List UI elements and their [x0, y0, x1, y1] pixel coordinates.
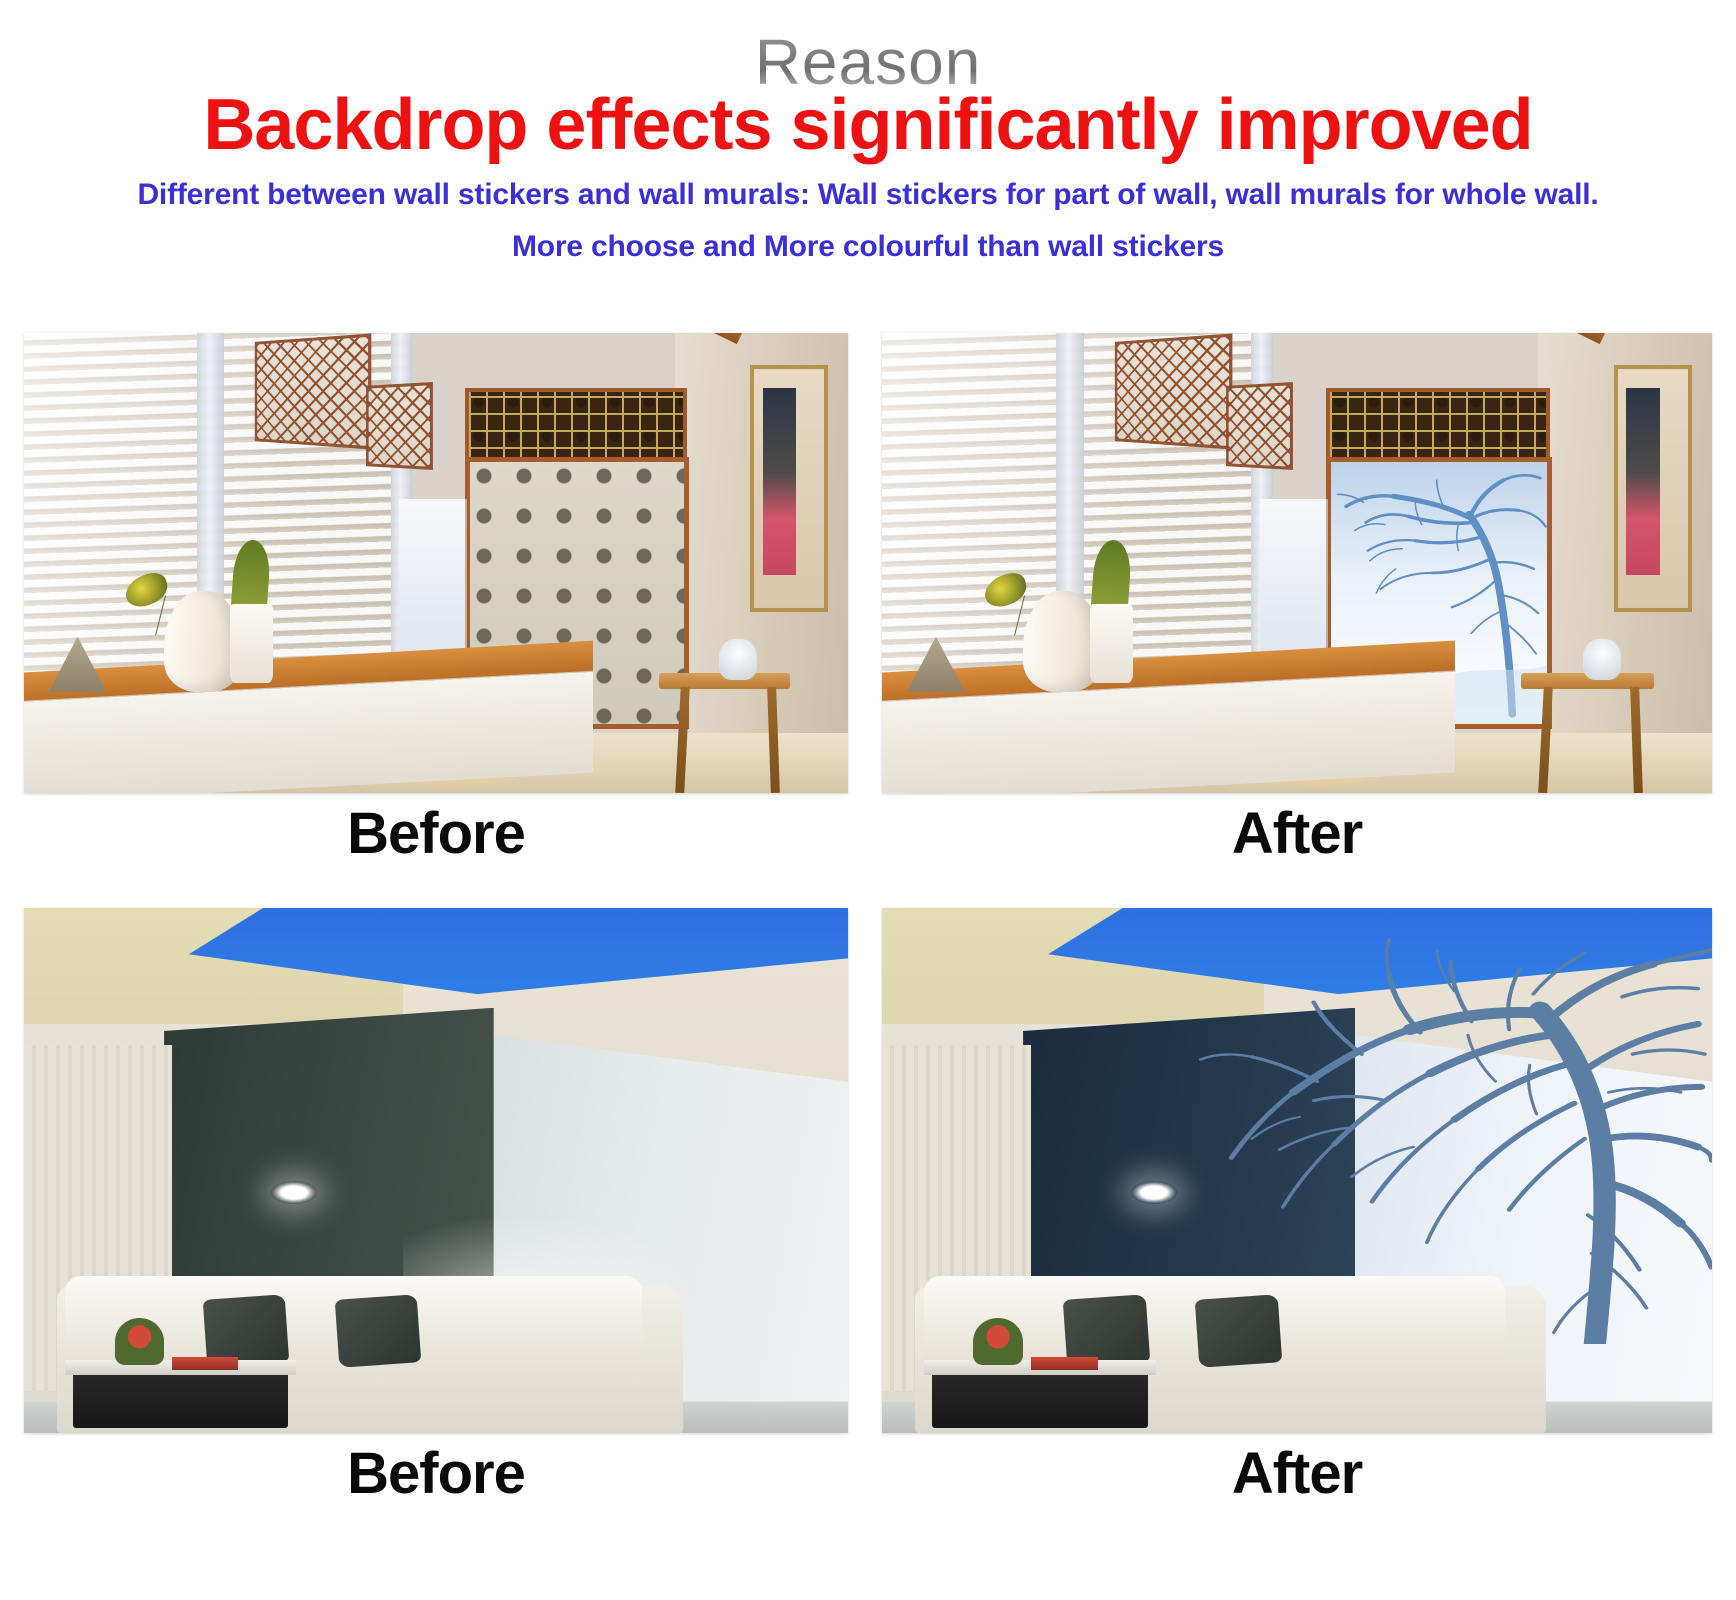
- comparison-row-hallway: Before: [0, 318, 1736, 878]
- photo-living-before: [24, 908, 848, 1433]
- flower-vase: [973, 1318, 1023, 1365]
- wall-art-frame: [1614, 365, 1693, 612]
- hallway-scene-after: [882, 333, 1712, 793]
- table-ornament: [719, 639, 757, 680]
- page-title: Backdrop effects significantly improved: [0, 88, 1736, 164]
- grey-cushion-2: [335, 1294, 422, 1368]
- plant-pot: [1090, 604, 1133, 682]
- subtitle-line-2: More choose and More colourful than wall…: [0, 226, 1736, 269]
- lattice-decoration-2: [366, 382, 433, 470]
- ceiling-spotlight: [271, 1181, 316, 1204]
- table-ornament: [1583, 639, 1621, 680]
- hallway-window: [1260, 499, 1328, 665]
- ceiling-spotlight: [1131, 1181, 1177, 1204]
- hallway-window: [399, 499, 467, 665]
- photo-hallway-after: [882, 333, 1712, 793]
- living-scene-before: [24, 908, 848, 1433]
- caption-hallway-after: After: [882, 805, 1712, 863]
- photo-hallway-before: [24, 333, 848, 793]
- photo-living-after: [882, 908, 1712, 1433]
- lattice-decoration-1: [1115, 333, 1233, 449]
- lattice-decoration-2: [1226, 382, 1293, 470]
- grey-cushion-2: [1195, 1294, 1283, 1368]
- comparison-row-living-room: Before: [0, 898, 1736, 1538]
- panel-living-after: After: [882, 908, 1712, 1433]
- flower-vase: [115, 1318, 164, 1365]
- panel-hallway-after: After: [882, 333, 1712, 793]
- panel-hallway-before: Before: [24, 333, 848, 793]
- red-book: [172, 1357, 238, 1370]
- subtitle-line-1: Different between wall stickers and wall…: [0, 174, 1736, 217]
- eyebrow-title: Reason: [0, 0, 1736, 94]
- plant-pot: [230, 604, 273, 682]
- wall-art-frame: [750, 365, 828, 612]
- page-header: Reason Backdrop effects significantly im…: [0, 0, 1736, 269]
- red-book: [1031, 1357, 1097, 1370]
- caption-hallway-before: Before: [24, 805, 848, 863]
- panel-living-before: Before: [24, 908, 848, 1433]
- caption-living-before: Before: [24, 1445, 848, 1503]
- hallway-scene-before: [24, 333, 848, 793]
- lattice-decoration-1: [255, 333, 372, 449]
- caption-living-after: After: [882, 1445, 1712, 1503]
- living-scene-after: [882, 908, 1712, 1433]
- comparison-grid: Before: [0, 318, 1736, 1538]
